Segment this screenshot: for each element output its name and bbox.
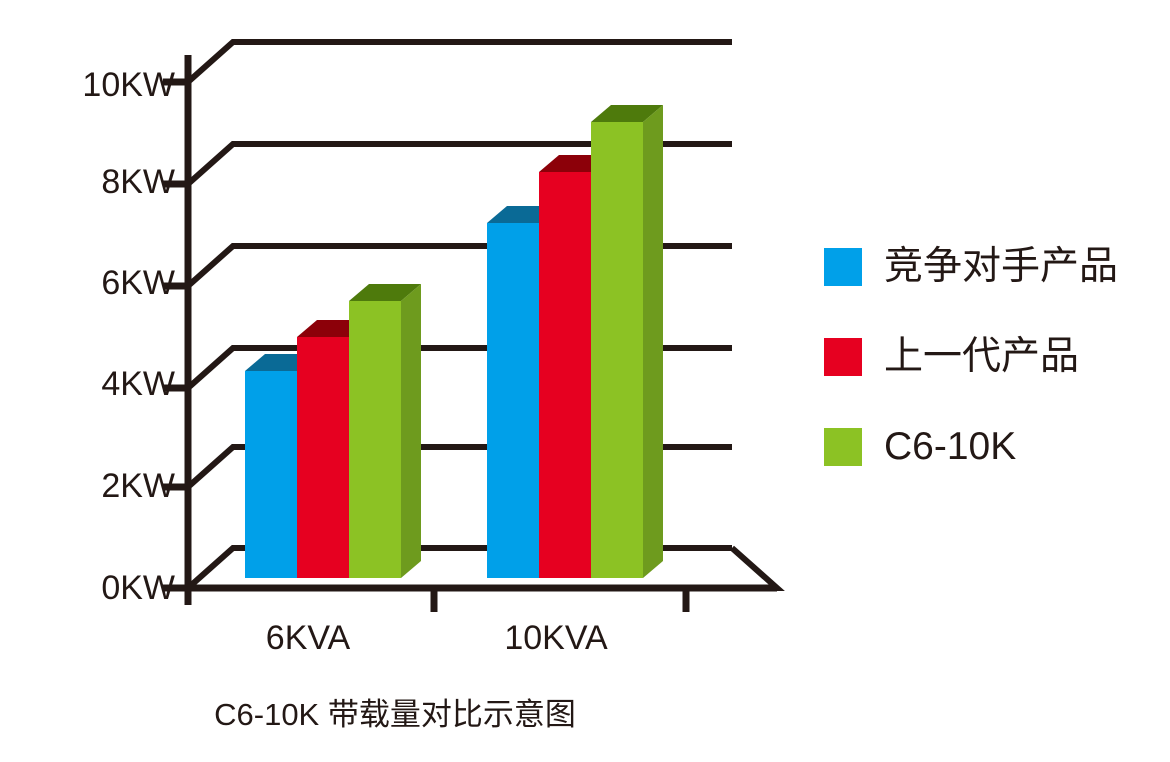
legend-label-c610k: C6-10K xyxy=(884,425,1016,469)
chart-caption: C6-10K 带载量对比示意图 xyxy=(0,697,790,733)
gridline-10kw xyxy=(188,42,732,82)
bar-front-face xyxy=(297,337,349,578)
y-axis xyxy=(163,55,188,605)
x-tick-label-10kva: 10KVA xyxy=(456,621,656,655)
chart-plot-area: 10KW 8KW 6KW 4KW 2KW 0KW xyxy=(0,0,790,762)
legend-item-competitor[interactable]: 竞争对手产品 xyxy=(824,243,1170,291)
legend-item-c610k[interactable]: C6-10K xyxy=(824,423,1170,471)
bar-10kva-c610k xyxy=(591,105,663,578)
legend-item-previous[interactable]: 上一代产品 xyxy=(824,333,1170,381)
bar-side-face xyxy=(643,105,663,578)
legend-swatch-previous xyxy=(824,338,862,376)
x-tick-label-6kva: 6KVA xyxy=(208,621,408,655)
bar-6kva-c610k xyxy=(349,284,421,578)
bar-front-face xyxy=(591,122,643,578)
legend-swatch-competitor xyxy=(824,248,862,286)
x-axis xyxy=(188,588,777,612)
legend-label-competitor: 竞争对手产品 xyxy=(884,245,1118,289)
bar-front-face xyxy=(245,371,297,578)
chart-page: 10KW 8KW 6KW 4KW 2KW 0KW xyxy=(0,0,1170,762)
chart-legend: 竞争对手产品 上一代产品 C6-10K xyxy=(824,243,1170,471)
bar-front-face xyxy=(487,223,539,578)
bar-front-face xyxy=(349,301,401,578)
legend-swatch-c610k xyxy=(824,428,862,466)
legend-label-previous: 上一代产品 xyxy=(884,335,1079,379)
bar-front-face xyxy=(539,172,591,578)
bar-side-face xyxy=(401,284,421,578)
